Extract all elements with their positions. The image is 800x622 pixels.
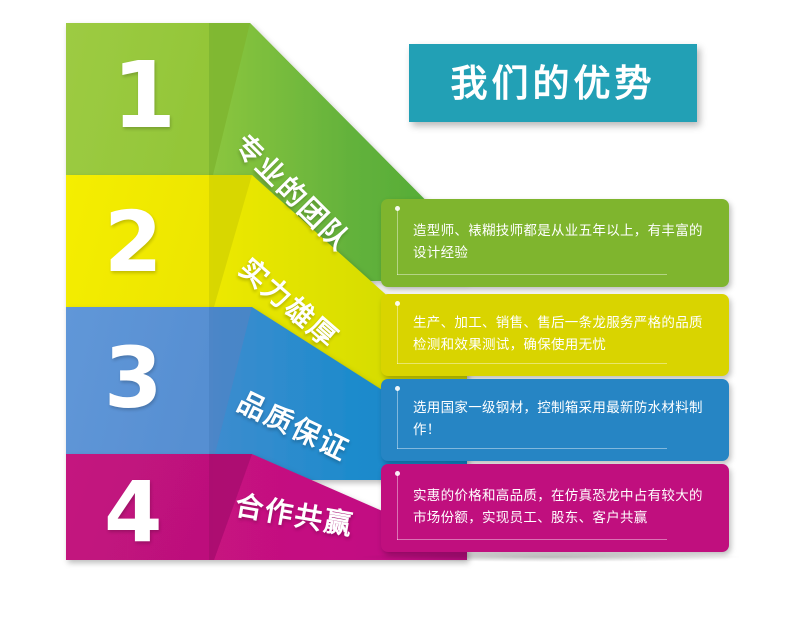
info-box-3[interactable]: 选用国家一级钢材，控制箱采用最新防水材料制作！ [381,379,729,461]
pin-marker-icon [397,474,398,540]
info-box-3-text: 选用国家一级钢材，控制箱采用最新防水材料制作！ [413,398,709,442]
page-title: 我们的优势 [451,65,656,102]
bottom-shadow [360,552,740,562]
row-1-number: 1 [112,50,176,142]
info-box-2[interactable]: 生产、加工、销售、售后一条龙服务严格的品质检测和效果测试，确保使用无忧 [381,294,729,376]
pin-marker-icon [397,209,398,275]
info-box-1-text: 造型师、裱糊技师都是从业五年以上，有丰富的设计经验 [413,221,709,265]
row-4-number: 4 [104,470,162,554]
title-banner: 我们的优势 [409,44,697,122]
row-2-number: 2 [104,200,162,284]
info-box-1[interactable]: 造型师、裱糊技师都是从业五年以上，有丰富的设计经验 [381,199,729,287]
pin-marker-icon [397,304,398,364]
row-3-number: 3 [104,336,162,420]
info-box-2-text: 生产、加工、销售、售后一条龙服务严格的品质检测和效果测试，确保使用无忧 [413,313,709,357]
pin-marker-icon [397,389,398,449]
info-box-4-text: 实惠的价格和高品质，在仿真恐龙中占有较大的市场份额，实现员工、股东、客户共赢 [413,486,709,530]
infographic-canvas: 我们的优势 1 2 3 4 专业的团队 实力雄厚 品质保证 合作共赢 造型师、裱… [0,0,800,622]
info-box-4[interactable]: 实惠的价格和高品质，在仿真恐龙中占有较大的市场份额，实现员工、股东、客户共赢 [381,464,729,552]
